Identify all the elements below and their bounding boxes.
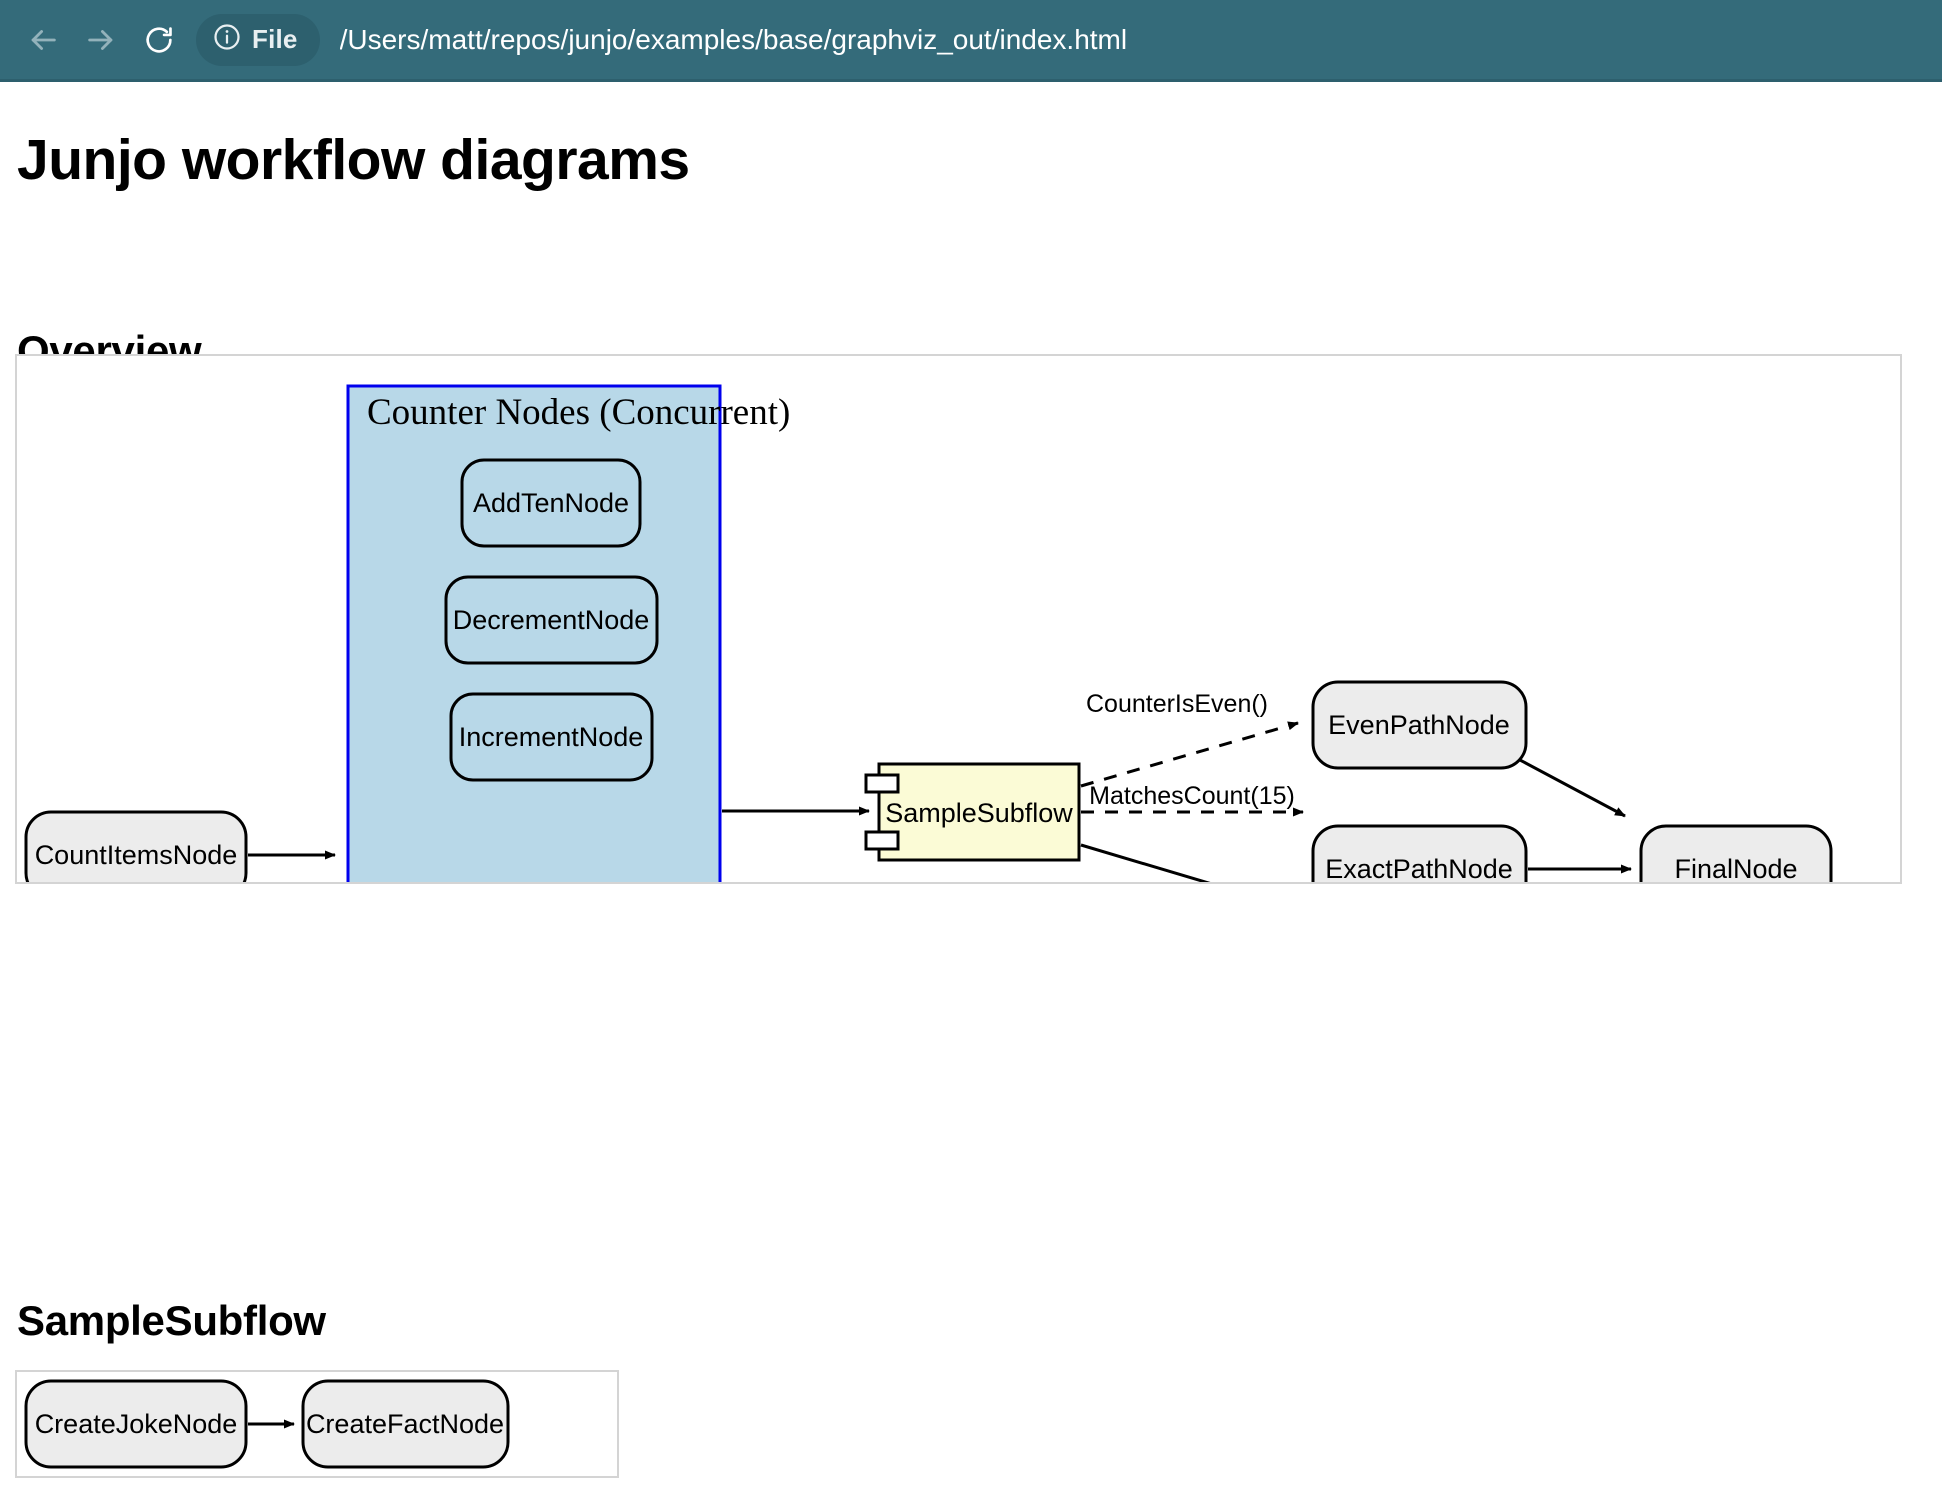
arrow-left-icon xyxy=(26,23,60,57)
url-text: /Users/matt/repos/junjo/examples/base/gr… xyxy=(340,24,1128,56)
node-label: DecrementNode xyxy=(453,605,650,635)
node-label: AddTenNode xyxy=(473,488,629,518)
info-circle-icon xyxy=(212,22,242,57)
address-bar[interactable]: File /Users/matt/repos/junjo/examples/ba… xyxy=(196,11,1928,69)
node-countitemsnode[interactable]: CountItemsNode xyxy=(26,812,246,882)
node-label: IncrementNode xyxy=(459,722,644,752)
node-label: ExactPathNode xyxy=(1325,854,1513,882)
edge-evenpathnode-to-finalnode xyxy=(1520,760,1625,816)
node-label: SampleSubflow xyxy=(885,798,1073,828)
overview-graph-container: Counter Nodes (Concurrent) AddTenNode De… xyxy=(15,354,1902,884)
reload-icon xyxy=(143,24,175,56)
node-label: CountItemsNode xyxy=(35,840,238,870)
node-label: FinalNode xyxy=(1674,854,1797,882)
url-scheme-chip[interactable]: File xyxy=(196,14,320,66)
node-label: CreateJokeNode xyxy=(35,1409,238,1439)
page-content: Junjo workflow diagrams Overview Counter… xyxy=(0,82,1942,1486)
arrow-right-icon xyxy=(84,23,118,57)
node-label: CreateFactNode xyxy=(306,1409,504,1439)
component-tab-top xyxy=(866,775,898,792)
subflow-graph-svg: CreateJokeNode CreateFactNode xyxy=(17,1372,617,1476)
subflow-graph-container: CreateJokeNode CreateFactNode xyxy=(15,1370,619,1478)
edge-samplesubflow-to-evenpathnode: CounterIsEven() xyxy=(1081,690,1298,786)
back-button[interactable] xyxy=(14,11,72,69)
node-samplesubflow[interactable]: SampleSubflow xyxy=(866,764,1079,860)
edge-label: CounterIsEven() xyxy=(1086,690,1268,718)
node-createjokenode[interactable]: CreateJokeNode xyxy=(26,1381,246,1467)
node-createfactnode[interactable]: CreateFactNode xyxy=(303,1381,508,1467)
component-tab-bottom xyxy=(866,832,898,849)
browser-toolbar: File /Users/matt/repos/junjo/examples/ba… xyxy=(0,0,1942,82)
forward-button[interactable] xyxy=(72,11,130,69)
node-exactpathnode[interactable]: ExactPathNode xyxy=(1313,826,1526,882)
section-heading-samplesubflow: SampleSubflow xyxy=(17,1297,326,1345)
node-finalnode[interactable]: FinalNode xyxy=(1641,826,1831,882)
overview-graph-svg: Counter Nodes (Concurrent) AddTenNode De… xyxy=(17,356,1900,882)
reload-button[interactable] xyxy=(130,11,188,69)
edge-samplesubflow-to-oddpathnode xyxy=(1081,845,1306,882)
edge-samplesubflow-to-exactpathnode: MatchesCount(15) xyxy=(1081,782,1303,812)
node-label: EvenPathNode xyxy=(1328,710,1510,740)
cluster-label: Counter Nodes (Concurrent) xyxy=(367,392,790,433)
url-scheme-label: File xyxy=(252,24,298,55)
node-evenpathnode[interactable]: EvenPathNode xyxy=(1313,682,1526,768)
page-title: Junjo workflow diagrams xyxy=(17,127,690,193)
edge-label: MatchesCount(15) xyxy=(1089,782,1295,810)
